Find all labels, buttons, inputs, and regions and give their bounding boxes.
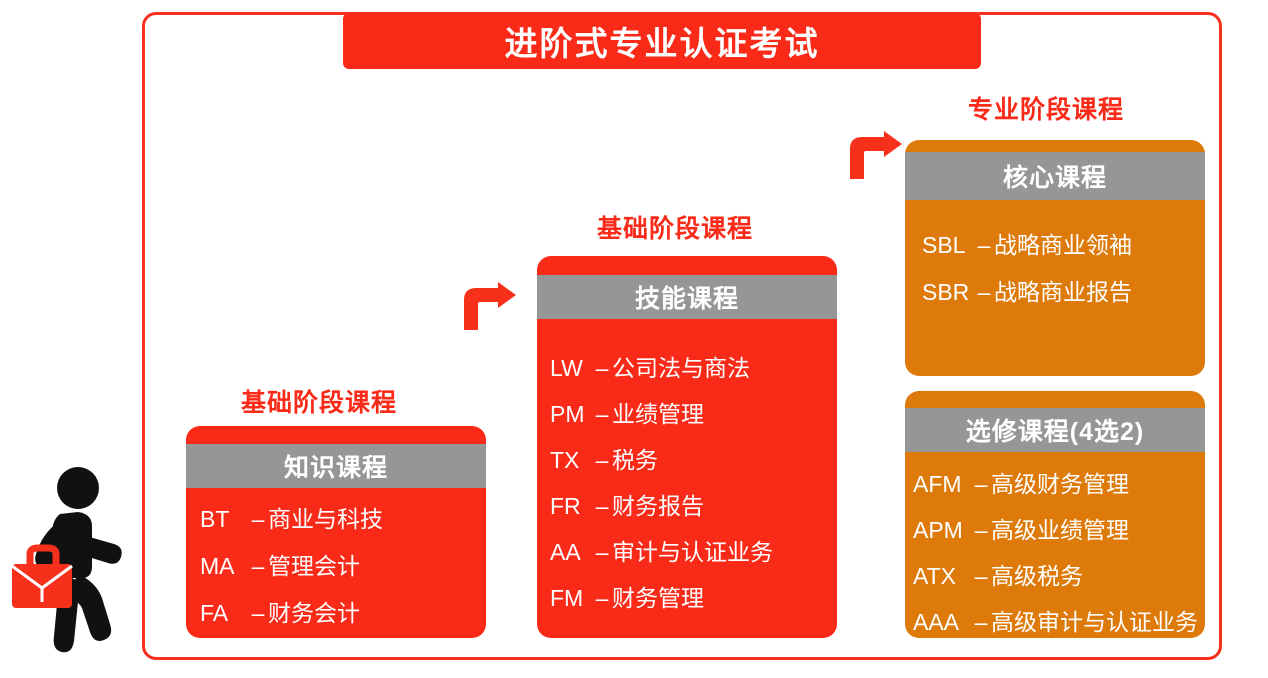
course-row: FR – 财务报告	[550, 487, 837, 521]
page-title: 进阶式专业认证考试	[505, 17, 820, 65]
course-code: TX	[550, 447, 592, 474]
card-band-label: 选修课程(4选2)	[966, 412, 1144, 448]
course-code: ATX	[913, 563, 971, 590]
course-row: ATX – 高级税务	[913, 557, 1205, 591]
course-code: AAA	[913, 609, 971, 636]
course-row: AFM – 高级财务管理	[913, 465, 1205, 499]
course-code: SBR	[922, 279, 974, 306]
card-band-label: 知识课程	[284, 448, 388, 484]
card-band-elective: 选修课程(4选2)	[905, 408, 1205, 452]
course-row: AA – 审计与认证业务	[550, 533, 837, 567]
course-row: PM – 业绩管理	[550, 395, 837, 429]
course-dash: –	[248, 506, 268, 533]
course-dash: –	[592, 539, 612, 566]
course-dash: –	[974, 232, 994, 259]
course-dash: –	[248, 553, 268, 580]
title-banner: 进阶式专业认证考试	[343, 13, 981, 69]
course-name: 财务报告	[612, 487, 704, 521]
course-row: TX – 税务	[550, 441, 837, 475]
course-name: 税务	[612, 441, 658, 475]
card-skills-courses[interactable]: 技能课程 LW – 公司法与商法 PM – 业绩管理 TX – 税务 FR – …	[537, 256, 837, 638]
course-name: 战略商业报告	[994, 273, 1132, 307]
course-list-elective: AFM – 高级财务管理 APM – 高级业绩管理 ATX – 高级税务 AAA…	[905, 465, 1205, 638]
course-code: FR	[550, 493, 592, 520]
course-name: 财务管理	[612, 579, 704, 613]
course-row: FA – 财务会计	[200, 594, 486, 628]
course-name: 业绩管理	[612, 395, 704, 429]
course-dash: –	[971, 517, 991, 544]
course-dash: –	[248, 600, 268, 627]
course-list-knowledge: BT – 商业与科技 MA – 管理会计 FA – 财务会计	[186, 500, 486, 638]
course-code: PM	[550, 401, 592, 428]
course-name: 高级审计与认证业务	[991, 603, 1198, 637]
course-list-skills: LW – 公司法与商法 PM – 业绩管理 TX – 税务 FR – 财务报告 …	[537, 349, 837, 625]
course-row: SBR – 战略商业报告	[922, 273, 1205, 307]
course-dash: –	[592, 585, 612, 612]
course-code: FM	[550, 585, 592, 612]
stage-heading-professional: 专业阶段课程	[968, 90, 1124, 126]
course-dash: –	[592, 355, 612, 382]
course-row: FM – 财务管理	[550, 579, 837, 613]
course-row: SBL – 战略商业领袖	[922, 226, 1205, 260]
course-code: MA	[200, 553, 248, 580]
course-row: BT – 商业与科技	[200, 500, 486, 534]
walking-businessman-with-briefcase-icon	[8, 466, 138, 676]
course-dash: –	[592, 401, 612, 428]
course-code: AFM	[913, 471, 971, 498]
course-code: AA	[550, 539, 592, 566]
course-name: 高级业绩管理	[991, 511, 1129, 545]
card-band-label: 核心课程	[1003, 158, 1107, 194]
course-name: 审计与认证业务	[612, 533, 773, 567]
course-dash: –	[592, 493, 612, 520]
elbow-arrow-up-right-icon	[848, 131, 904, 184]
course-code: BT	[200, 506, 248, 533]
course-name: 高级税务	[991, 557, 1083, 591]
course-row: AAA – 高级审计与认证业务	[913, 603, 1205, 637]
course-dash: –	[971, 471, 991, 498]
course-dash: –	[592, 447, 612, 474]
course-name: 战略商业领袖	[994, 226, 1132, 260]
course-dash: –	[974, 279, 994, 306]
course-name: 商业与科技	[268, 500, 383, 534]
course-name: 管理会计	[268, 547, 360, 581]
course-row: APM – 高级业绩管理	[913, 511, 1205, 545]
elbow-arrow-up-right-icon	[462, 282, 518, 335]
course-dash: –	[971, 563, 991, 590]
course-code: APM	[913, 517, 971, 544]
stage-heading-skills: 基础阶段课程	[597, 209, 753, 245]
course-code: FA	[200, 600, 248, 627]
stage-heading-knowledge: 基础阶段课程	[241, 383, 397, 419]
card-band-label: 技能课程	[635, 279, 739, 315]
course-name: 公司法与商法	[612, 349, 750, 383]
course-code: SBL	[922, 232, 974, 259]
card-knowledge-courses[interactable]: 知识课程 BT – 商业与科技 MA – 管理会计 FA – 财务会计	[186, 426, 486, 638]
card-elective-courses[interactable]: 选修课程(4选2) AFM – 高级财务管理 APM – 高级业绩管理 ATX …	[905, 391, 1205, 638]
card-core-courses[interactable]: 核心课程 SBL – 战略商业领袖 SBR – 战略商业报告	[905, 140, 1205, 376]
card-band-core: 核心课程	[905, 152, 1205, 200]
card-band-skills: 技能课程	[537, 275, 837, 319]
course-name: 高级财务管理	[991, 465, 1129, 499]
course-code: LW	[550, 355, 592, 382]
course-list-core: SBL – 战略商业领袖 SBR – 战略商业报告	[905, 226, 1205, 320]
course-dash: –	[971, 609, 991, 636]
course-name: 财务会计	[268, 594, 360, 628]
infographic-canvas: 进阶式专业认证考试 基础阶段课程 基础阶段课程 专业阶段课程 知识课程 BT –…	[0, 0, 1268, 678]
card-band-knowledge: 知识课程	[186, 444, 486, 488]
course-row: LW – 公司法与商法	[550, 349, 837, 383]
course-row: MA – 管理会计	[200, 547, 486, 581]
